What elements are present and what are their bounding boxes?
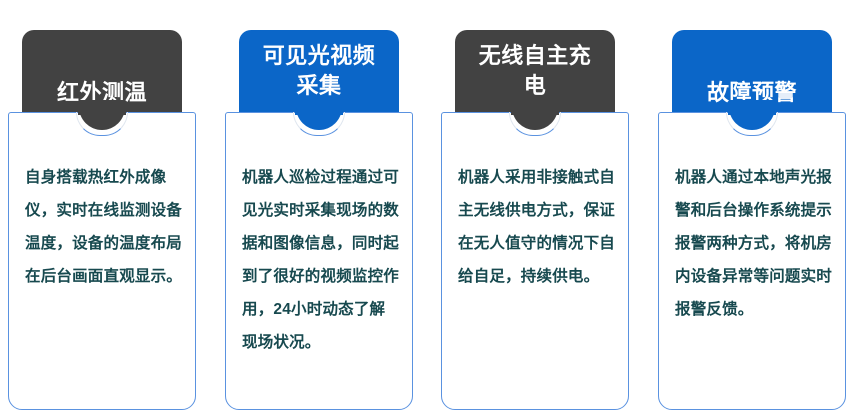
- feature-card-fault-early-warning[interactable]: 机器人通过本地声光报警和后台操作系统提示报警两种方式，将机房内设备异常等问题实时…: [658, 30, 846, 410]
- card-description: 机器人通过本地声光报警和后台操作系统提示报警两种方式，将机房内设备异常等问题实时…: [675, 161, 833, 326]
- card-description: 自身搭载热红外成像仪，实时在线监测设备温度，设备的温度布局在后台画面直观显示。: [25, 161, 183, 293]
- feature-card-wireless-autonomous-charging[interactable]: 机器人采用非接触式自主无线供电方式，保证在无人值守的情况下自给自足，持续供电。 …: [441, 30, 629, 410]
- notch-seam-cover: [728, 111, 776, 115]
- card-body-panel: 机器人巡检过程通过可见光实时采集现场的数据和图像信息，同时起到了很好的视频监控作…: [225, 112, 413, 410]
- feature-cards-board: 自身搭载热红外成像仪，实时在线监测设备温度，设备的温度布局在后台画面直观显示。 …: [0, 0, 860, 420]
- feature-card-visible-light-video-capture[interactable]: 机器人巡检过程通过可见光实时采集现场的数据和图像信息，同时起到了很好的视频监控作…: [225, 30, 413, 410]
- card-description: 机器人巡检过程通过可见光实时采集现场的数据和图像信息，同时起到了很好的视频监控作…: [242, 161, 400, 359]
- card-description: 机器人采用非接触式自主无线供电方式，保证在无人值守的情况下自给自足，持续供电。: [458, 161, 616, 293]
- card-body-panel: 机器人通过本地声光报警和后台操作系统提示报警两种方式，将机房内设备异常等问题实时…: [658, 112, 846, 410]
- notch-seam-cover: [511, 111, 559, 115]
- card-title: 可见光视频 采集: [263, 41, 376, 101]
- card-body-panel: 机器人采用非接触式自主无线供电方式，保证在无人值守的情况下自给自足，持续供电。: [441, 112, 629, 410]
- card-body-panel: 自身搭载热红外成像仪，实时在线监测设备温度，设备的温度布局在后台画面直观显示。: [8, 112, 196, 410]
- notch-seam-cover: [295, 111, 343, 115]
- notch-seam-cover: [78, 111, 126, 115]
- feature-card-infrared-temperature[interactable]: 自身搭载热红外成像仪，实时在线监测设备温度，设备的温度布局在后台画面直观显示。 …: [8, 30, 196, 410]
- card-title: 无线自主充 电: [479, 41, 592, 101]
